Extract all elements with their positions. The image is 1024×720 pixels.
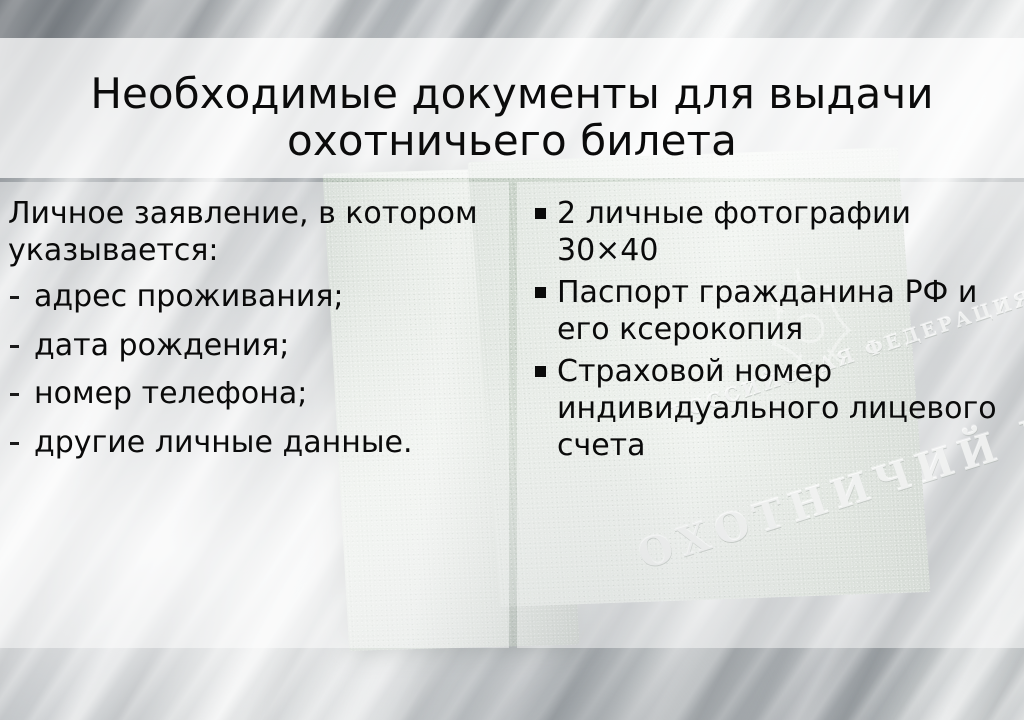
list-item-label: другие личные данные. <box>34 425 413 460</box>
left-bullet-list: Личное заявление, в котором указывается:… <box>0 196 509 462</box>
list-item: Личное заявление, в котором указывается:… <box>0 196 509 462</box>
list-item-label: Паспорт гражданина РФ и его ксерокопия <box>557 275 977 347</box>
list-item-label: 2 личные фотографии 30×40 <box>557 196 911 268</box>
page-title: Необходимые документы для выдачи охотнич… <box>0 70 1024 164</box>
right-bullet-list: 2 личные фотографии 30×40 Паспорт гражда… <box>531 196 1012 464</box>
square-bullet-icon <box>535 366 546 377</box>
presentation-slide: РОССИЙСКАЯ ФЕДЕРАЦИЯ ОХОТНИЧИЙ БИЛЕТ Нео… <box>0 0 1024 720</box>
dash-bullet-icon <box>10 393 19 396</box>
square-bullet-icon <box>535 208 546 219</box>
list-item: Страховой номер индивидуального лицевого… <box>531 354 1012 464</box>
left-column: Личное заявление, в котором указывается:… <box>0 182 519 648</box>
right-column: 2 личные фотографии 30×40 Паспорт гражда… <box>517 182 1024 648</box>
list-item-label: адрес проживания; <box>34 279 344 314</box>
list-item-label: дата рождения; <box>34 328 289 363</box>
list-item: другие личные данные. <box>8 425 509 462</box>
list-item: дата рождения; <box>8 328 509 365</box>
list-item: адрес проживания; <box>8 279 509 316</box>
list-item-label: номер телефона; <box>34 376 307 411</box>
list-item: номер телефона; <box>8 376 509 413</box>
list-item: 2 личные фотографии 30×40 <box>531 196 1012 269</box>
dash-bullet-icon <box>10 345 19 348</box>
square-bullet-icon <box>535 287 546 298</box>
list-item-label: Страховой номер индивидуального лицевого… <box>557 354 997 462</box>
dash-bullet-icon <box>10 442 19 445</box>
list-item-label: Личное заявление, в котором указывается: <box>8 196 478 268</box>
dash-bullet-icon <box>10 296 19 299</box>
left-sub-bullet-list: адрес проживания; дата рождения; номер т… <box>8 279 509 461</box>
list-item: Паспорт гражданина РФ и его ксерокопия <box>531 275 1012 348</box>
